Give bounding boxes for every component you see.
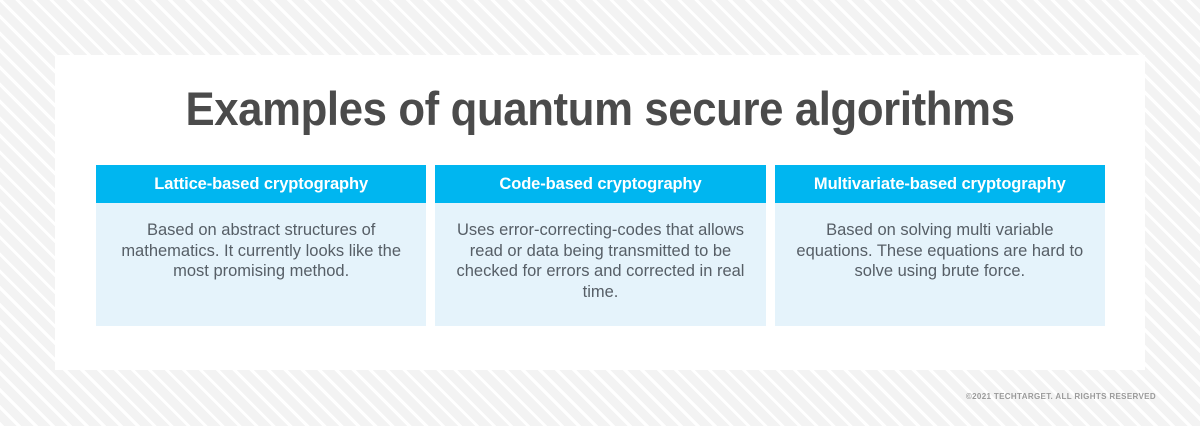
column-header-multivariate-based: Multivariate-based cryptography <box>775 165 1105 203</box>
column-body-code-based: Uses error-correcting-codes that allows … <box>435 203 765 326</box>
infographic-root: Examples of quantum secure algorithms La… <box>0 0 1200 426</box>
page-title: Examples of quantum secure algorithms <box>93 84 1107 133</box>
column-lattice-based: Lattice-based cryptography Based on abst… <box>96 165 426 326</box>
columns-container: Lattice-based cryptography Based on abst… <box>96 165 1105 326</box>
column-body-multivariate-based: Based on solving multi variable equation… <box>775 203 1105 326</box>
column-body-text-multivariate-based: Based on solving multi variable equation… <box>787 220 1093 282</box>
copyright-notice: ©2021 TECHTARGET. ALL RIGHTS RESERVED <box>966 392 1156 401</box>
column-body-text-lattice-based: Based on abstract structures of mathemat… <box>108 220 414 282</box>
column-header-code-based: Code-based cryptography <box>435 165 765 203</box>
column-header-lattice-based: Lattice-based cryptography <box>96 165 426 203</box>
column-body-lattice-based: Based on abstract structures of mathemat… <box>96 203 426 326</box>
column-code-based: Code-based cryptography Uses error-corre… <box>435 165 765 326</box>
column-body-text-code-based: Uses error-correcting-codes that allows … <box>447 220 753 302</box>
content-card: Examples of quantum secure algorithms La… <box>55 55 1145 370</box>
column-multivariate-based: Multivariate-based cryptography Based on… <box>775 165 1105 326</box>
